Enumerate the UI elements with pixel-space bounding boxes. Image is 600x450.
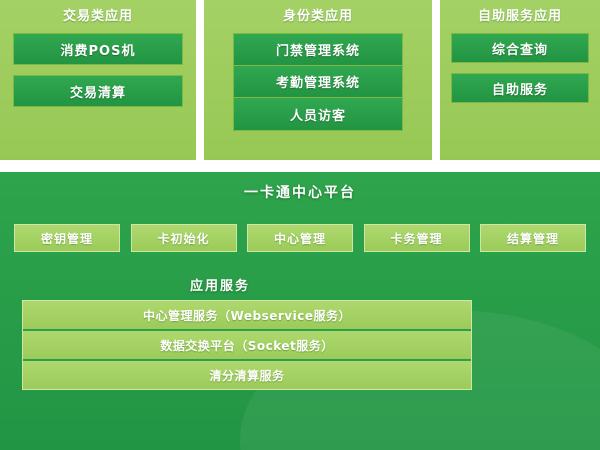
top-application-panels: 交易类应用 消费POS机 交易清算 身份类应用 门禁管理系统 考勤管理系统 人员… — [0, 0, 600, 160]
panel-identity-applications: 身份类应用 门禁管理系统 考勤管理系统 人员访客 — [204, 0, 432, 160]
panel-identity-items: 门禁管理系统 考勤管理系统 人员访客 — [204, 33, 432, 131]
panel-self-service-applications: 自助服务应用 综合查询 自助服务 — [440, 0, 600, 160]
app-box-attendance-system[interactable]: 考勤管理系统 — [234, 66, 402, 98]
app-box-personnel-visitor[interactable]: 人员访客 — [234, 98, 402, 130]
panel-self-service-items: 综合查询 自助服务 — [440, 33, 600, 113]
center-module-row: 密钥管理 卡初始化 中心管理 卡务管理 结算管理 — [14, 224, 586, 252]
app-box-transaction-settlement[interactable]: 交易清算 — [13, 75, 183, 107]
app-box-access-control-system[interactable]: 门禁管理系统 — [234, 34, 402, 66]
app-box-pos-machine[interactable]: 消费POS机 — [13, 33, 183, 65]
panel-title-identity: 身份类应用 — [283, 7, 353, 27]
panel-title-transaction: 交易类应用 — [63, 7, 133, 27]
application-services-title: 应用服务 — [0, 275, 440, 294]
module-key-management[interactable]: 密钥管理 — [14, 224, 120, 252]
architecture-diagram: 交易类应用 消费POS机 交易清算 身份类应用 门禁管理系统 考勤管理系统 人员… — [0, 0, 600, 450]
service-data-exchange-socket[interactable]: 数据交换平台（Socket服务） — [23, 331, 471, 361]
module-card-initialization[interactable]: 卡初始化 — [131, 224, 237, 252]
panel-transaction-items: 消费POS机 交易清算 — [0, 33, 196, 117]
app-box-comprehensive-query[interactable]: 综合查询 — [451, 33, 589, 63]
module-settlement-management[interactable]: 结算管理 — [480, 224, 586, 252]
center-platform-title: 一卡通中心平台 — [0, 182, 600, 202]
application-services-stack: 中心管理服务（Webservice服务） 数据交换平台（Socket服务） 清分… — [22, 300, 472, 390]
panel-title-self-service: 自助服务应用 — [478, 7, 562, 27]
service-clearing-settlement[interactable]: 清分清算服务 — [23, 361, 471, 389]
module-center-management[interactable]: 中心管理 — [247, 224, 353, 252]
identity-box-stack: 门禁管理系统 考勤管理系统 人员访客 — [233, 33, 403, 131]
module-card-service-management[interactable]: 卡务管理 — [364, 224, 470, 252]
panel-transaction-applications: 交易类应用 消费POS机 交易清算 — [0, 0, 196, 160]
app-box-self-service[interactable]: 自助服务 — [451, 73, 589, 103]
service-center-management-webservice[interactable]: 中心管理服务（Webservice服务） — [23, 301, 471, 331]
center-platform-panel: 一卡通中心平台 密钥管理 卡初始化 中心管理 卡务管理 结算管理 应用服务 中心… — [0, 172, 600, 450]
